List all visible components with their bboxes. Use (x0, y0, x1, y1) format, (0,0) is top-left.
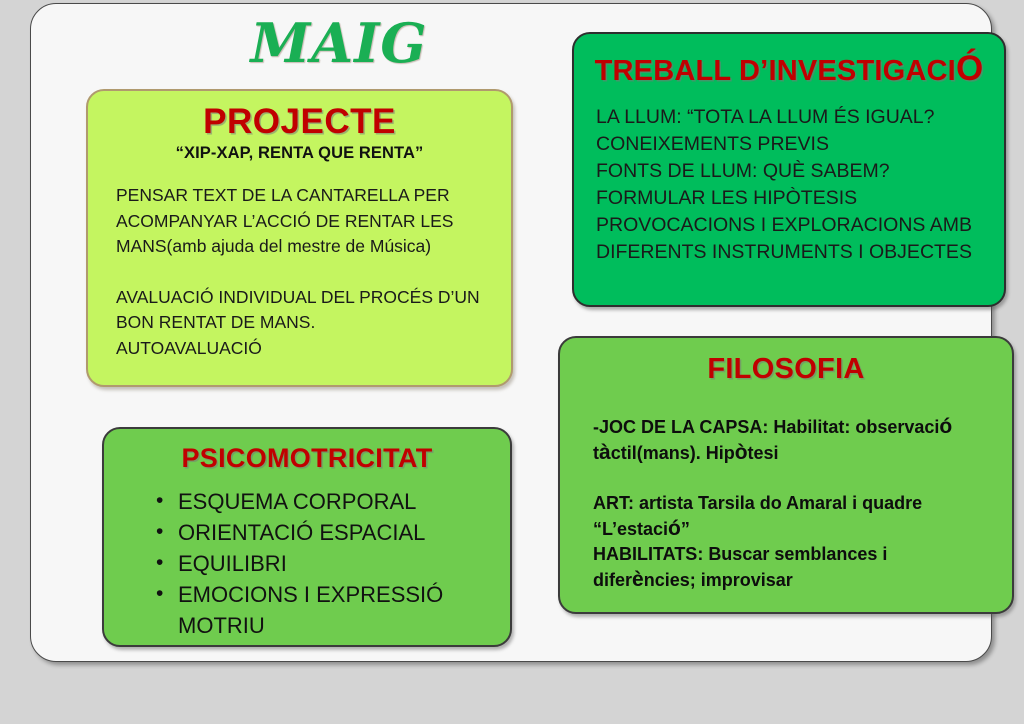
card-projecte-subtitle: “XIP-XAP, RENTA QUE RENTA” (88, 144, 511, 163)
card-projecte-body: PENSAR TEXT DE LA CANTARELLA PER ACOMPAN… (88, 183, 511, 361)
filosofia-line: ART: artista Tarsila do Amaral i quadre (593, 491, 996, 516)
treball-line: CONEIXEMENTS PREVIS (596, 131, 992, 158)
projecte-line: AVALUACIÓ INDIVIDUAL DEL PROCÉS D’UN (116, 285, 489, 311)
filosofia-accent: à (599, 441, 611, 464)
filosofia-text: tesi (748, 443, 779, 463)
treball-line: FONTS DE LLUM: QUÈ SABEM? (596, 158, 992, 185)
card-filosofia-title: FILOSOFIA (560, 352, 1012, 386)
card-filosofia-body: -JOC DE LA CAPSA: Habilitat: observació … (560, 414, 1012, 593)
projecte-line: BON RENTAT DE MANS. (116, 310, 489, 336)
filosofia-line: -JOC DE LA CAPSA: Habilitat: observació (593, 414, 996, 440)
card-treball-investigacio-title: TREBALL D’INVESTIGACIÓ (574, 51, 1004, 89)
paragraph-spacer (593, 466, 996, 491)
list-item: EMOCIONS I EXPRESSIÓ MOTRIU (156, 579, 500, 641)
filosofia-accent: è (632, 568, 644, 591)
filosofia-line: “L’estació” (593, 516, 996, 542)
treball-title-main: TREBALL D’INVESTIGACI (595, 55, 956, 87)
list-item: EQUILIBRI (156, 548, 500, 579)
filosofia-accent: ò (735, 441, 748, 464)
list-item: ORIENTACIÓ ESPACIAL (156, 517, 500, 548)
card-projecte[interactable]: PROJECTE “XIP-XAP, RENTA QUE RENTA” PENS… (86, 89, 513, 387)
treball-title-accent: Ó (956, 49, 983, 88)
filosofia-text: ncies; improvisar (644, 570, 793, 590)
treball-line: LA LLUM: “TOTA LA LLUM ÉS IGUAL? (596, 104, 992, 131)
treball-line: PROVOCACIONS I EXPLORACIONS AMB (596, 212, 992, 239)
card-projecte-title: PROJECTE (88, 102, 511, 142)
filosofia-line: tàctil(mans). Hipòtesi (593, 440, 996, 466)
filosofia-text: difer (593, 570, 632, 590)
filosofia-text: ” (681, 519, 690, 539)
treball-line: DIFERENTS INSTRUMENTS I OBJECTES (596, 239, 992, 266)
card-filosofia[interactable]: FILOSOFIA -JOC DE LA CAPSA: Habilitat: o… (558, 336, 1014, 614)
filosofia-accent: ó (668, 517, 681, 540)
card-treball-investigacio-body: LA LLUM: “TOTA LA LLUM ÉS IGUAL? CONEIXE… (574, 104, 1004, 266)
psicomotricitat-list: ESQUEMA CORPORAL ORIENTACIÓ ESPACIAL EQU… (104, 486, 510, 641)
paragraph-spacer (116, 260, 489, 285)
page-title: MAIG (199, 12, 479, 74)
card-treball-investigacio[interactable]: TREBALL D’INVESTIGACIÓ LA LLUM: “TOTA LA… (572, 32, 1006, 307)
projecte-line: MANS(amb ajuda del mestre de Música) (116, 234, 489, 260)
card-psicomotricitat[interactable]: PSICOMOTRICITAT ESQUEMA CORPORAL ORIENTA… (102, 427, 512, 647)
filosofia-text: “L’estaci (593, 519, 668, 539)
slide-canvas: MAIG PROJECTE “XIP-XAP, RENTA QUE RENTA”… (30, 3, 992, 662)
projecte-line: PENSAR TEXT DE LA CANTARELLA PER (116, 183, 489, 209)
treball-line: FORMULAR LES HIPÒTESIS (596, 185, 992, 212)
filosofia-line: HABILITATS: Buscar semblances i (593, 542, 996, 567)
filosofia-text: ctil(mans). Hip (611, 443, 735, 463)
filosofia-accent: ó (939, 415, 952, 438)
filosofia-line: diferències; improvisar (593, 567, 996, 593)
projecte-line: ACOMPANYAR L’ACCIÓ DE RENTAR LES (116, 209, 489, 235)
card-psicomotricitat-title: PSICOMOTRICITAT (104, 442, 510, 474)
list-item: ESQUEMA CORPORAL (156, 486, 500, 517)
filosofia-text: -JOC DE LA CAPSA: Habilitat: observaci (593, 417, 939, 437)
projecte-line: AUTOAVALUACIÓ (116, 336, 489, 362)
